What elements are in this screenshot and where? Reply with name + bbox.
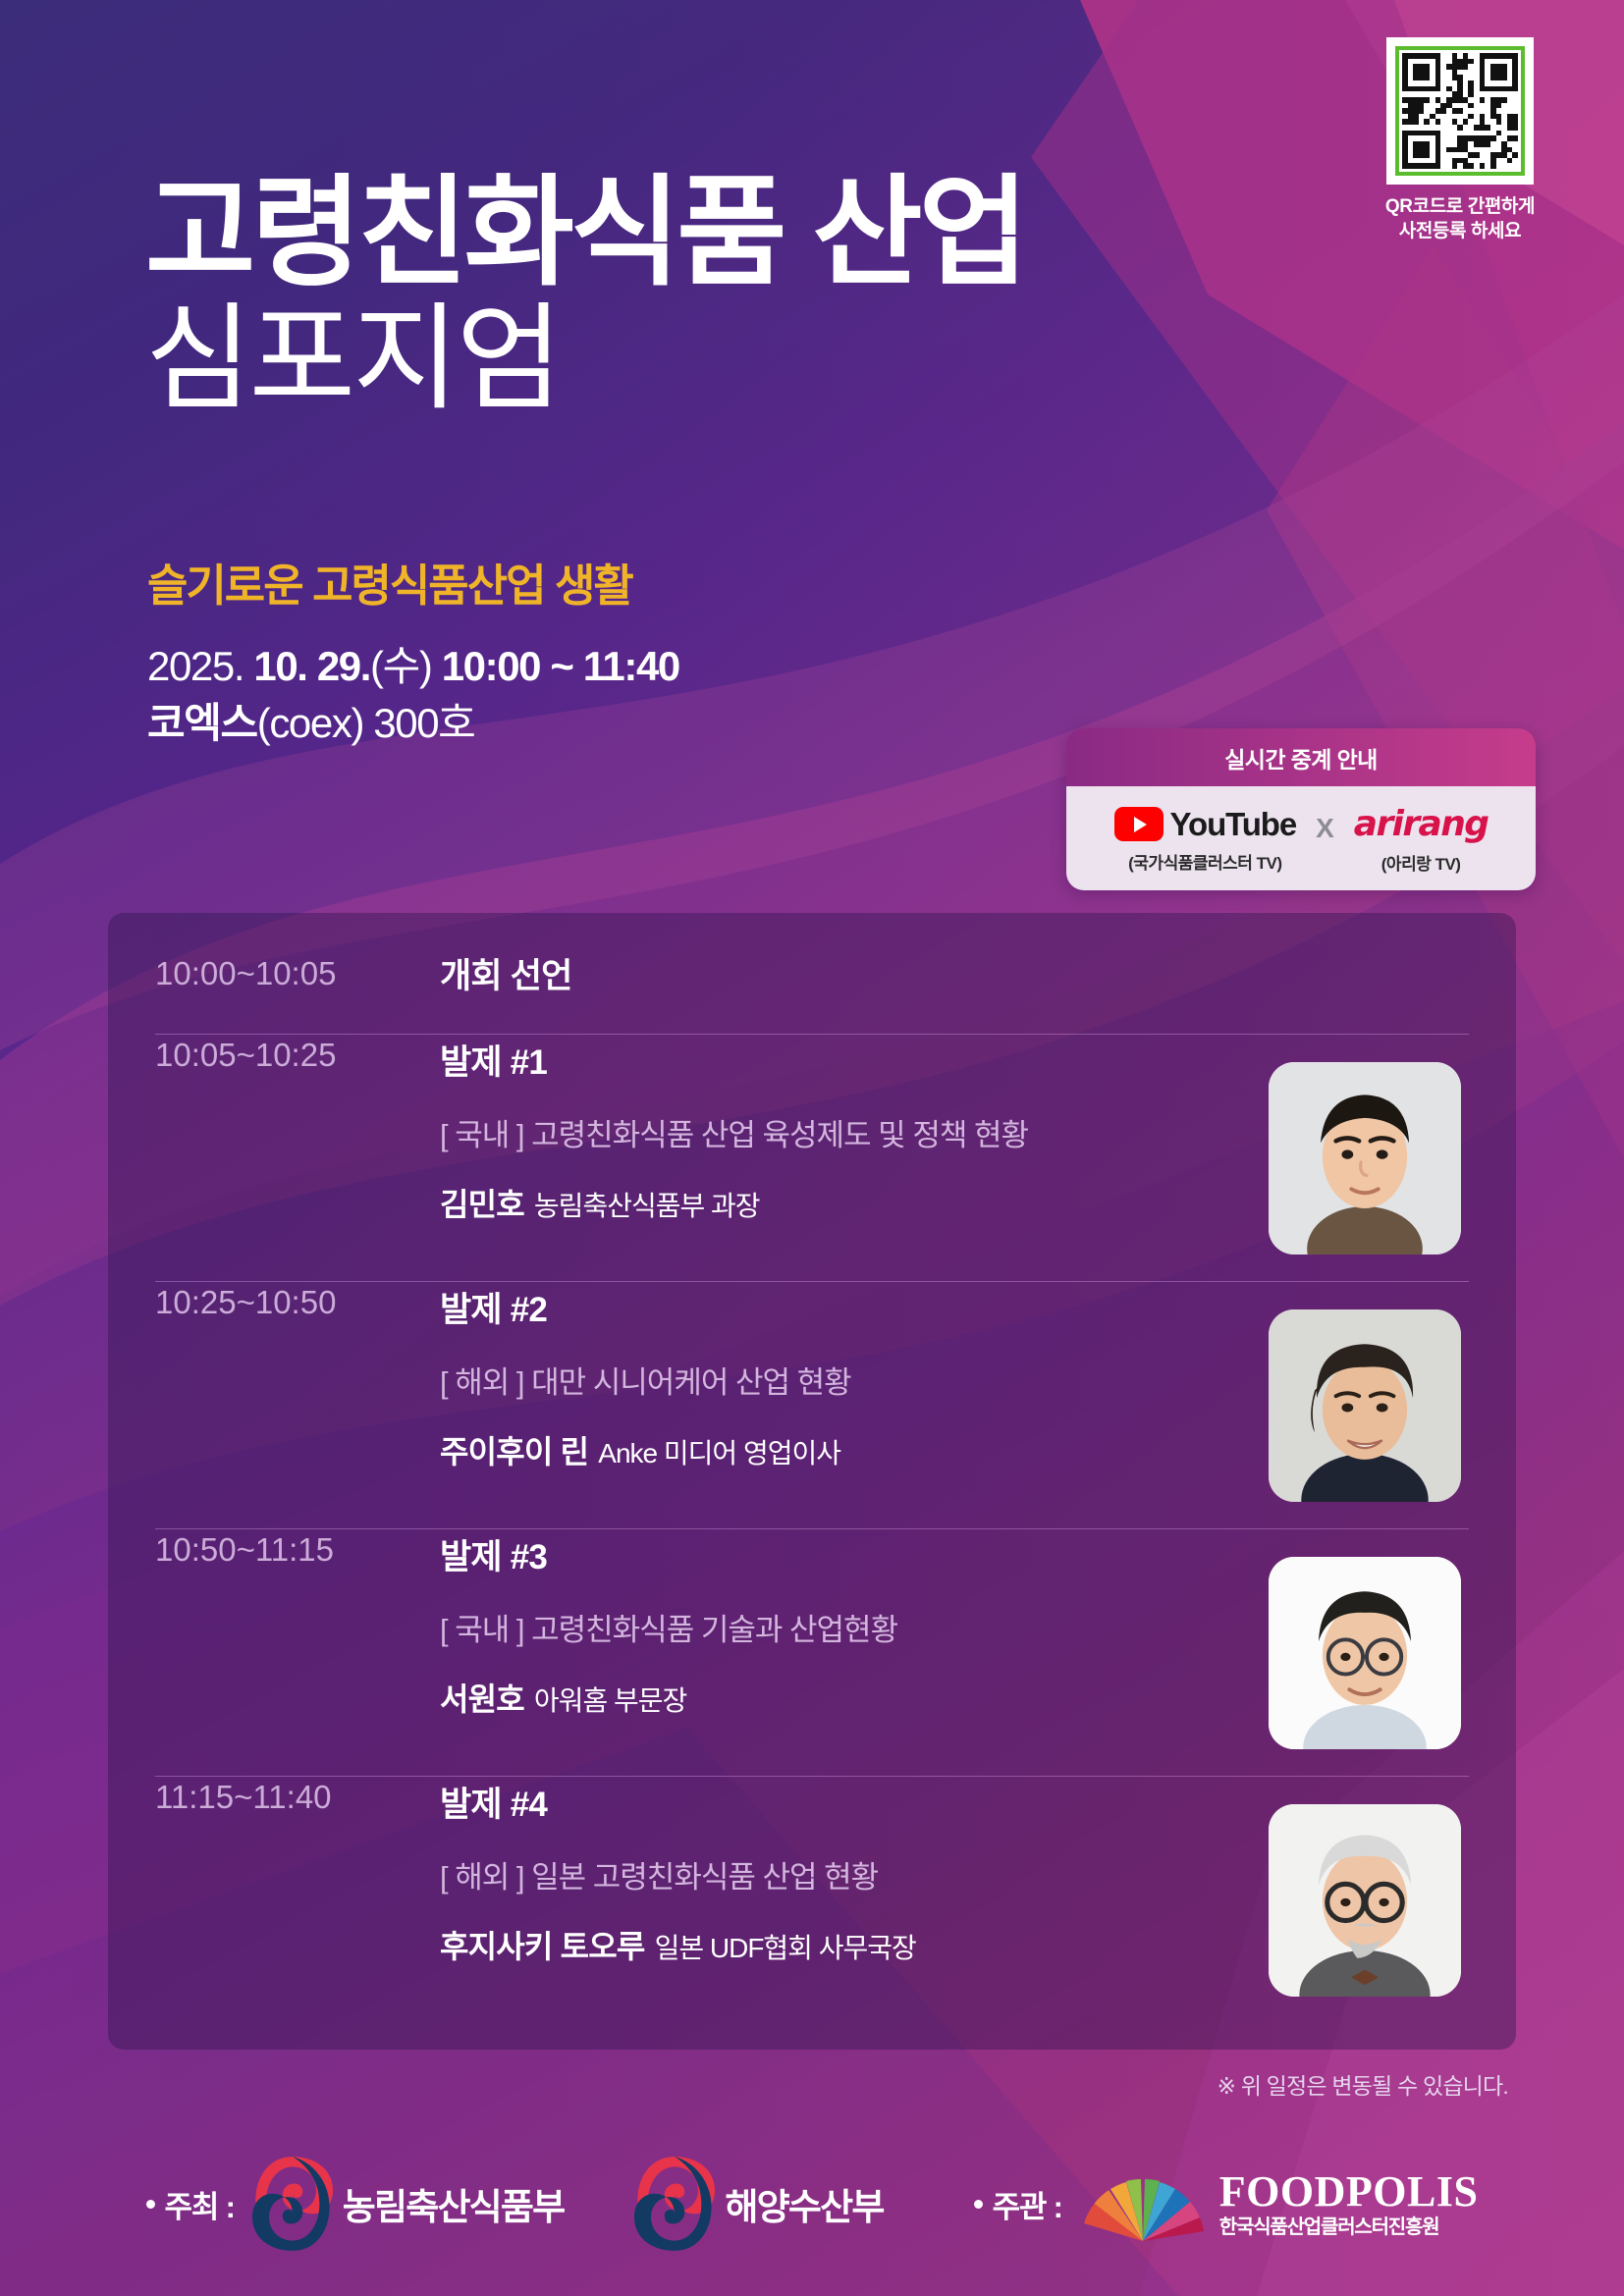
- host-name-0: 농림축산식품부: [343, 2177, 565, 2230]
- session-speaker: 서원호아워홈 부문장: [440, 1675, 1223, 1720]
- korea-government-taeguk-icon: [250, 2152, 335, 2256]
- session-title: 발제 #3: [440, 1529, 1223, 1579]
- event-year: 2025.: [147, 643, 253, 689]
- organizer-subtitle: 한국식품산업클러스터진흥원: [1219, 2217, 1479, 2239]
- channel-separator: X: [1314, 813, 1336, 866]
- schedule-panel: 10:00~10:05 개회 선언 10:05~10:25 발제 #1 [ 국내…: [108, 913, 1516, 2050]
- organizer-label: 주관 :: [974, 2182, 1062, 2226]
- table-row: 10:00~10:05 개회 선언: [155, 913, 1469, 1035]
- table-row: 10:05~10:25 발제 #1 [ 국내 ] 고령친화식품 산업 육성제도 …: [155, 1035, 1469, 1282]
- speaker-affiliation: 아워홈 부문장: [534, 1685, 686, 1716]
- host-label: 주최 :: [146, 2182, 235, 2226]
- event-time-range: 10:00 ~ 11:40: [442, 643, 679, 689]
- session-speaker: 김민호농림축산식품부 과장: [440, 1180, 1223, 1225]
- youtube-label: YouTube: [1170, 806, 1297, 843]
- session-time: 10:00~10:05: [155, 955, 440, 992]
- session-title: 개회 선언: [440, 948, 1469, 998]
- host-label-text: 주최 :: [165, 2182, 235, 2226]
- session-topic: [ 해외 ] 대만 시니어케어 산업 현황: [440, 1358, 1223, 1402]
- qr-code-icon: [1402, 53, 1518, 169]
- speaker-name: 서원호: [440, 1682, 524, 1717]
- venue-detail: (coex) 300호: [257, 700, 475, 746]
- foodpolis-fan-icon: [1080, 2164, 1206, 2243]
- session-time: 11:15~11:40: [155, 1777, 440, 1816]
- korea-government-taeguk-icon: [632, 2152, 717, 2256]
- session-topic: [ 국내 ] 고령친화식품 산업 육성제도 및 정책 현황: [440, 1110, 1223, 1154]
- table-row: 11:15~11:40 발제 #4 [ 해외 ] 일본 고령친화식품 산업 현황…: [155, 1777, 1469, 2024]
- title-line-1: 고령친화식품 산업: [145, 173, 1025, 293]
- session-title: 발제 #1: [440, 1035, 1223, 1085]
- qr-caption-line2: 사전등록 하세요: [1367, 219, 1553, 243]
- live-broadcast-header: 실시간 중계 안내: [1066, 728, 1536, 786]
- organizer-text: FOODPOLIS 한국식품산업클러스터진흥원: [1219, 2168, 1479, 2239]
- avatar: [1269, 1557, 1461, 1749]
- event-datetime: 2025. 10. 29.(수) 10:00 ~ 11:40: [147, 638, 679, 695]
- qr-caption: QR코드로 간편하게 사전등록 하세요: [1367, 194, 1553, 243]
- qr-green-frame: [1395, 46, 1525, 176]
- youtube-sublabel: (국가식품클러스터 TV): [1114, 849, 1297, 874]
- speaker-affiliation: 농림축산식품부 과장: [534, 1191, 760, 1221]
- host-name-1: 해양수산부: [725, 2177, 883, 2230]
- host-group-2: 해양수산부: [617, 2152, 883, 2256]
- venue-name: 코엑스: [147, 700, 257, 746]
- bullet-icon: [146, 2200, 155, 2209]
- host-group: 주최 : 농림축산식품부: [146, 2152, 565, 2256]
- qr-caption-line1: QR코드로 간편하게: [1367, 194, 1553, 219]
- live-broadcast-body: YouTube (국가식품클러스터 TV) X arirang (아리랑 TV): [1066, 786, 1536, 890]
- event-month-day: 10. 29.: [253, 643, 370, 689]
- organizer-label-text: 주관 :: [993, 2182, 1062, 2226]
- channel-arirang[interactable]: arirang (아리랑 TV): [1354, 804, 1489, 875]
- youtube-icon: [1114, 807, 1164, 841]
- session-time: 10:50~11:15: [155, 1529, 440, 1569]
- speaker-name: 후지사키 토오루: [440, 1929, 645, 1964]
- bullet-icon: [974, 2200, 983, 2209]
- speaker-name: 주이후이 린: [440, 1434, 588, 1469]
- session-topic: [ 국내 ] 고령친화식품 기술과 산업현황: [440, 1605, 1223, 1649]
- session-topic: [ 해외 ] 일본 고령친화식품 산업 현황: [440, 1852, 1223, 1896]
- speaker-name: 김민호: [440, 1187, 524, 1222]
- table-row: 10:50~11:15 발제 #3 [ 국내 ] 고령친화식품 기술과 산업현황…: [155, 1529, 1469, 1777]
- poster-root: QR코드로 간편하게 사전등록 하세요 고령친화식품 산업 심포지엄 슬기로운 …: [0, 0, 1624, 2296]
- session-title: 발제 #2: [440, 1282, 1223, 1332]
- qr-registration-block[interactable]: QR코드로 간편하게 사전등록 하세요: [1367, 37, 1553, 243]
- organizer-name: FOODPOLIS: [1219, 2168, 1479, 2216]
- speaker-affiliation: Anke 미디어 영업이사: [598, 1438, 840, 1468]
- qr-card[interactable]: [1386, 37, 1534, 185]
- channel-youtube[interactable]: YouTube (국가식품클러스터 TV): [1114, 806, 1297, 874]
- organizer-group: 주관 : FOODPOLIS 한국식품산업클러스터진흥원: [974, 2164, 1479, 2243]
- event-meta: 2025. 10. 29.(수) 10:00 ~ 11:40 코엑스(coex)…: [147, 638, 679, 752]
- poster-headline: 고령친화식품 산업 심포지엄: [145, 173, 1025, 421]
- speaker-affiliation: 일본 UDF협회 사무국장: [655, 1933, 916, 1963]
- schedule-note: ※ 위 일정은 변동될 수 있습니다.: [1218, 2067, 1508, 2101]
- event-weekday: (수): [370, 643, 442, 689]
- event-venue: 코엑스(coex) 300호: [147, 695, 679, 752]
- footer: 주최 : 농림축산식품부 해양수산부 주관 :: [0, 2152, 1624, 2256]
- session-title: 발제 #4: [440, 1777, 1223, 1827]
- session-speaker: 주이후이 린Anke 미디어 영업이사: [440, 1427, 1223, 1472]
- session-speaker: 후지사키 토오루일본 UDF협회 사무국장: [440, 1922, 1223, 1967]
- session-time: 10:05~10:25: [155, 1035, 440, 1074]
- poster-tagline: 슬기로운 고령식품산업 생활: [147, 550, 632, 614]
- live-broadcast-card: 실시간 중계 안내 YouTube (국가식품클러스터 TV) X ariran…: [1066, 728, 1536, 890]
- avatar: [1269, 1062, 1461, 1255]
- session-time: 10:25~10:50: [155, 1282, 440, 1321]
- title-line-2: 심포지엄: [145, 298, 1025, 421]
- arirang-icon: arirang: [1354, 804, 1489, 844]
- arirang-sublabel: (아리랑 TV): [1354, 850, 1489, 875]
- table-row: 10:25~10:50 발제 #2 [ 해외 ] 대만 시니어케어 산업 현황 …: [155, 1282, 1469, 1529]
- avatar: [1269, 1309, 1461, 1502]
- avatar: [1269, 1804, 1461, 1997]
